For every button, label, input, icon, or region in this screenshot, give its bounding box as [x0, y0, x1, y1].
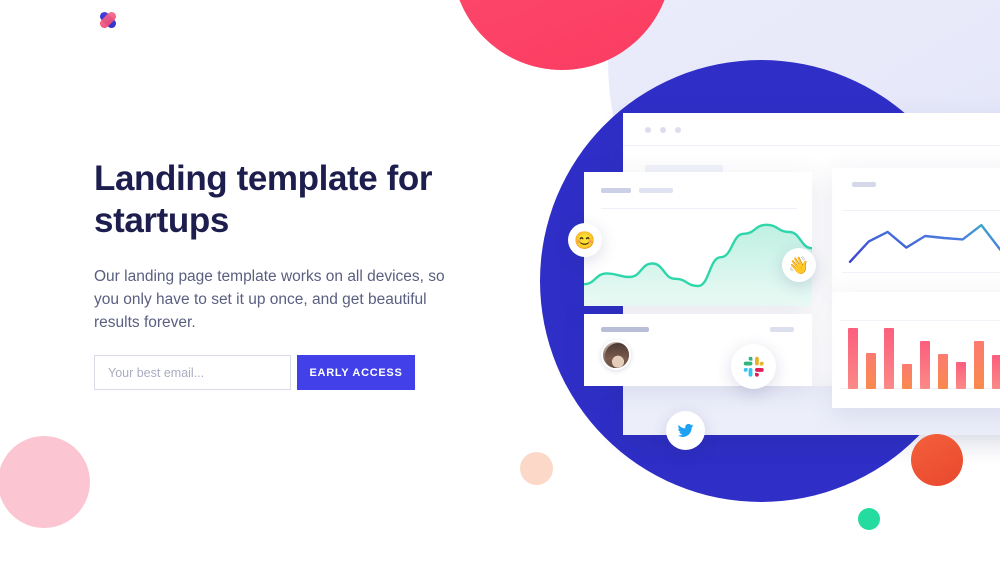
bar	[974, 341, 984, 389]
slack-logo-badge[interactable]	[731, 344, 776, 389]
wave-emoji-icon: 👋	[788, 257, 809, 274]
peach-circle	[520, 452, 553, 485]
app-logo[interactable]	[93, 5, 123, 35]
orange-circle	[911, 434, 963, 486]
twitter-logo-badge[interactable]	[666, 411, 705, 450]
slack-icon	[743, 356, 765, 378]
hero-copy: Landing template for startups Our landin…	[94, 158, 474, 334]
page-title: Landing template for startups	[94, 158, 474, 242]
pink-circle	[0, 436, 90, 528]
twitter-icon	[677, 422, 694, 439]
smile-emoji-icon: 😊	[574, 232, 595, 249]
early-access-form: EARLY ACCESS	[94, 355, 415, 390]
email-field[interactable]	[94, 355, 291, 390]
early-access-button[interactable]: EARLY ACCESS	[297, 355, 415, 390]
smile-emoji-badge[interactable]: 😊	[568, 223, 602, 257]
bar	[992, 355, 1000, 389]
teal-circle	[858, 508, 880, 530]
hero-subtitle: Our landing page template works on all d…	[94, 265, 459, 334]
app-logo-mark	[93, 5, 123, 35]
wave-emoji-badge[interactable]: 👋	[782, 248, 816, 282]
landing-page: 😊 👋	[0, 0, 1000, 570]
indigo-circle	[540, 60, 982, 502]
